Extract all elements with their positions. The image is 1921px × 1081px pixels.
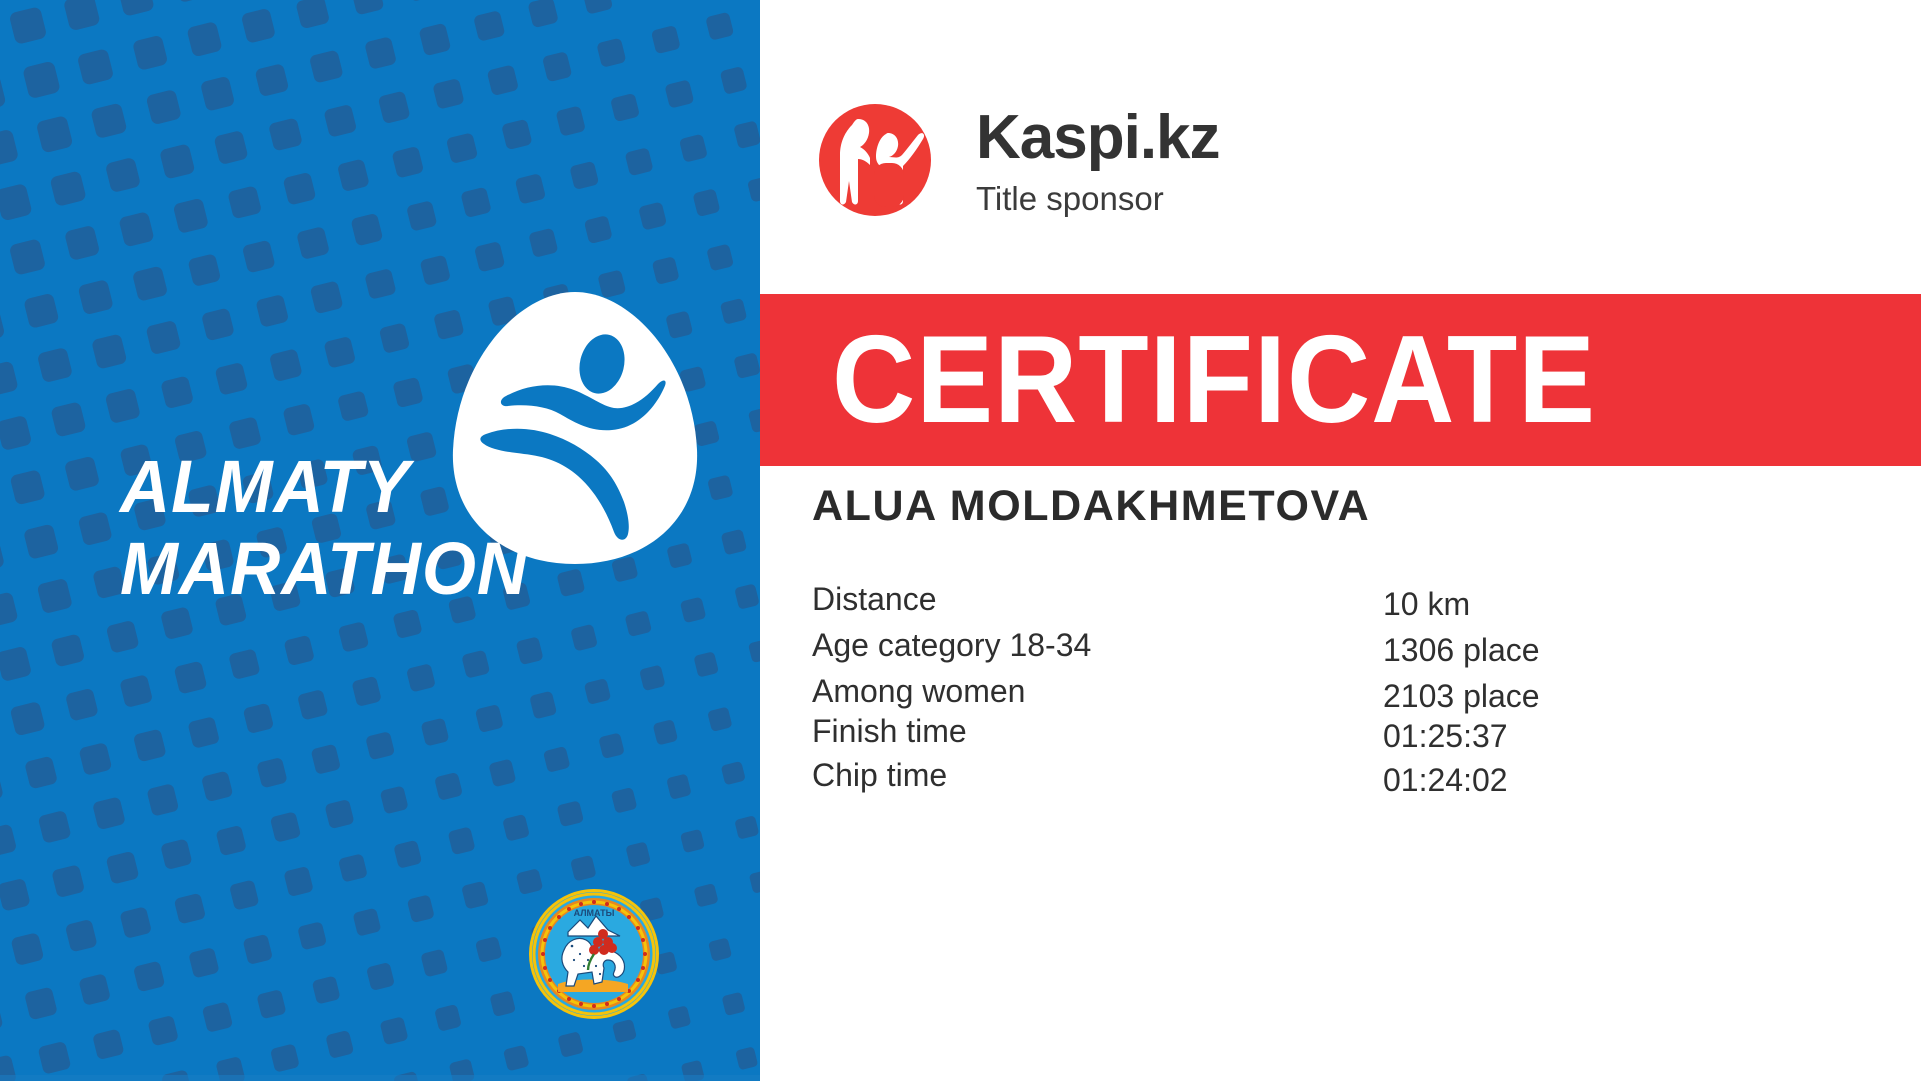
sponsor-role: Title sponsor xyxy=(976,181,1220,217)
detail-label: Among women xyxy=(812,672,1025,710)
logo-line-almaty: ALMATY xyxy=(120,445,410,528)
almaty-marathon-logo: ALMATY MARATHON xyxy=(120,288,700,608)
detail-value: 01:24:02 xyxy=(1383,761,1508,799)
brand-panel: ALMATY MARATHON xyxy=(0,0,760,1081)
detail-row: Chip time01:24:02 xyxy=(812,756,1872,802)
detail-row: Age category 18-341306 place xyxy=(812,626,1872,672)
certificate-content: Kaspi.kz Title sponsor CERTIFICATE ALUA … xyxy=(760,0,1921,1081)
title-sponsor-block: Kaspi.kz Title sponsor xyxy=(818,103,1338,233)
detail-label: Chip time xyxy=(812,756,947,794)
result-details-table: Distance10 kmAge category 18-341306 plac… xyxy=(812,580,1872,810)
detail-row: Finish time01:25:37 xyxy=(812,712,1872,758)
kaspi-family-icon xyxy=(818,103,932,219)
sponsor-text-block: Kaspi.kz Title sponsor xyxy=(976,105,1220,217)
svg-text:АЛМАТЫ: АЛМАТЫ xyxy=(574,908,615,918)
detail-value: 01:25:37 xyxy=(1383,717,1508,755)
sponsor-name: Kaspi.kz xyxy=(976,105,1220,171)
detail-label: Age category 18-34 xyxy=(812,626,1091,664)
certificate-title: CERTIFICATE xyxy=(832,316,1596,444)
certificate-page: ALMATY MARATHON xyxy=(0,0,1921,1081)
detail-label: Distance xyxy=(812,580,937,618)
athlete-name: ALUA MOLDAKHMETOVA xyxy=(812,482,1370,530)
detail-label: Finish time xyxy=(812,712,967,750)
almaty-city-emblem-snow-leopard-icon: АЛМАТЫ xyxy=(528,888,660,1020)
panel-bottom-edge xyxy=(0,1075,760,1081)
detail-value: 1306 place xyxy=(1383,631,1540,669)
logo-line-marathon: MARATHON xyxy=(120,528,571,610)
detail-row: Distance10 km xyxy=(812,580,1872,626)
detail-value: 10 km xyxy=(1383,585,1470,623)
almaty-marathon-wordmark: ALMATY MARATHON xyxy=(120,446,571,610)
detail-value: 2103 place xyxy=(1383,677,1540,715)
certificate-banner: CERTIFICATE xyxy=(760,294,1921,466)
